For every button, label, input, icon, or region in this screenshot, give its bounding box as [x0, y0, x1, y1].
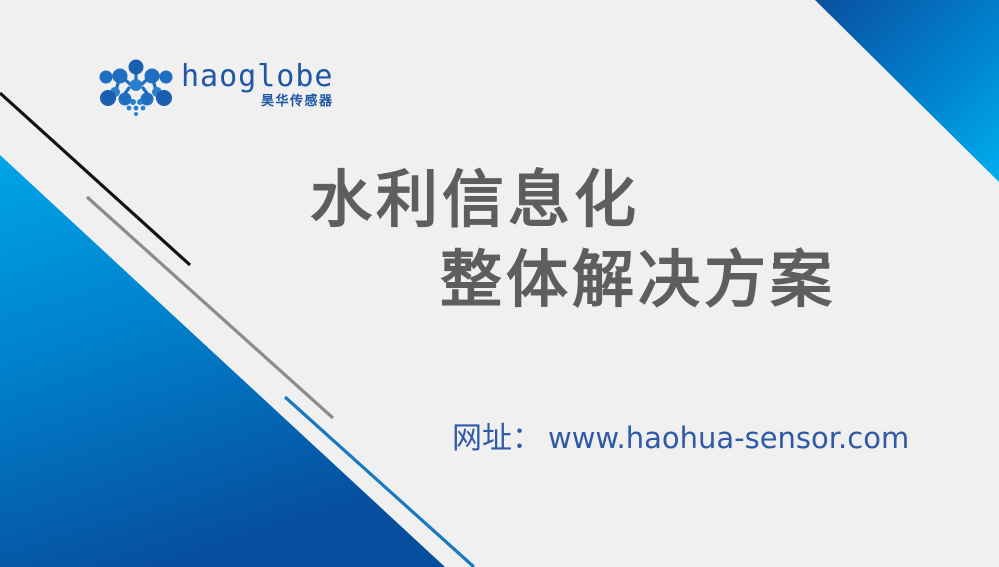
right-blue-triangle [815, 0, 999, 182]
title-line-2: 整体解决方案 [440, 240, 900, 320]
company-logo: haoglobe 昊华传感器 [99, 58, 334, 116]
molecule-network-icon [99, 58, 173, 116]
logo-text-block: haoglobe 昊华传感器 [181, 58, 334, 109]
logo-chinese-name: 昊华传感器 [261, 94, 334, 109]
page-title: 水利信息化 整体解决方案 [300, 160, 900, 320]
website-label: 网址： [452, 419, 542, 459]
title-line-1: 水利信息化 [310, 160, 900, 240]
logo-wordmark: haoglobe [181, 61, 334, 93]
website-line: 网址： www.haohua-sensor.com [452, 418, 909, 459]
website-url[interactable]: www.haohua-sensor.com [548, 418, 909, 458]
presentation-slide: haoglobe 昊华传感器 水利信息化 整体解决方案 网址： www.haoh… [0, 0, 999, 567]
